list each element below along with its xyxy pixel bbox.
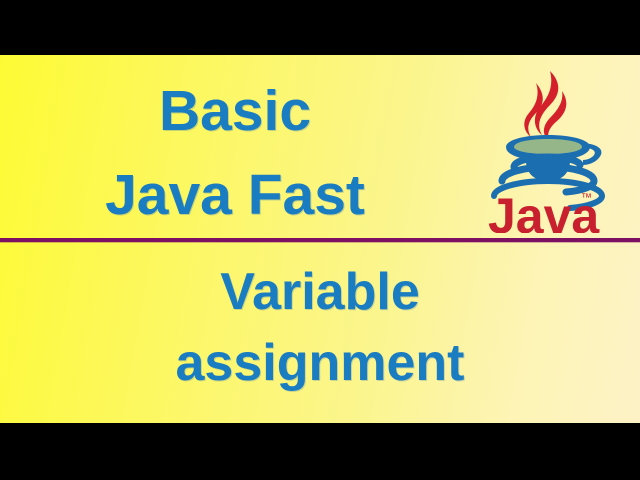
subtitle-line-assignment: assignment: [0, 337, 640, 389]
letterbox-bar-bottom: [0, 423, 640, 480]
upper-panel: Basic Java Fast: [0, 55, 640, 238]
title-card: Basic Java Fast: [0, 55, 640, 423]
lower-panel: Variable assignment: [0, 243, 640, 423]
java-trademark-mark: ™: [581, 192, 592, 204]
video-title-slide: Basic Java Fast: [0, 0, 640, 480]
title-line-java-fast: Java Fast: [0, 167, 470, 224]
title-line-basic: Basic: [0, 83, 470, 140]
section-divider-shadow: [0, 242, 640, 243]
subtitle-line-variable: Variable: [0, 266, 640, 318]
letterbox-bar-top: [0, 0, 640, 55]
java-coffee-cup-logo: Java ™: [484, 61, 612, 233]
